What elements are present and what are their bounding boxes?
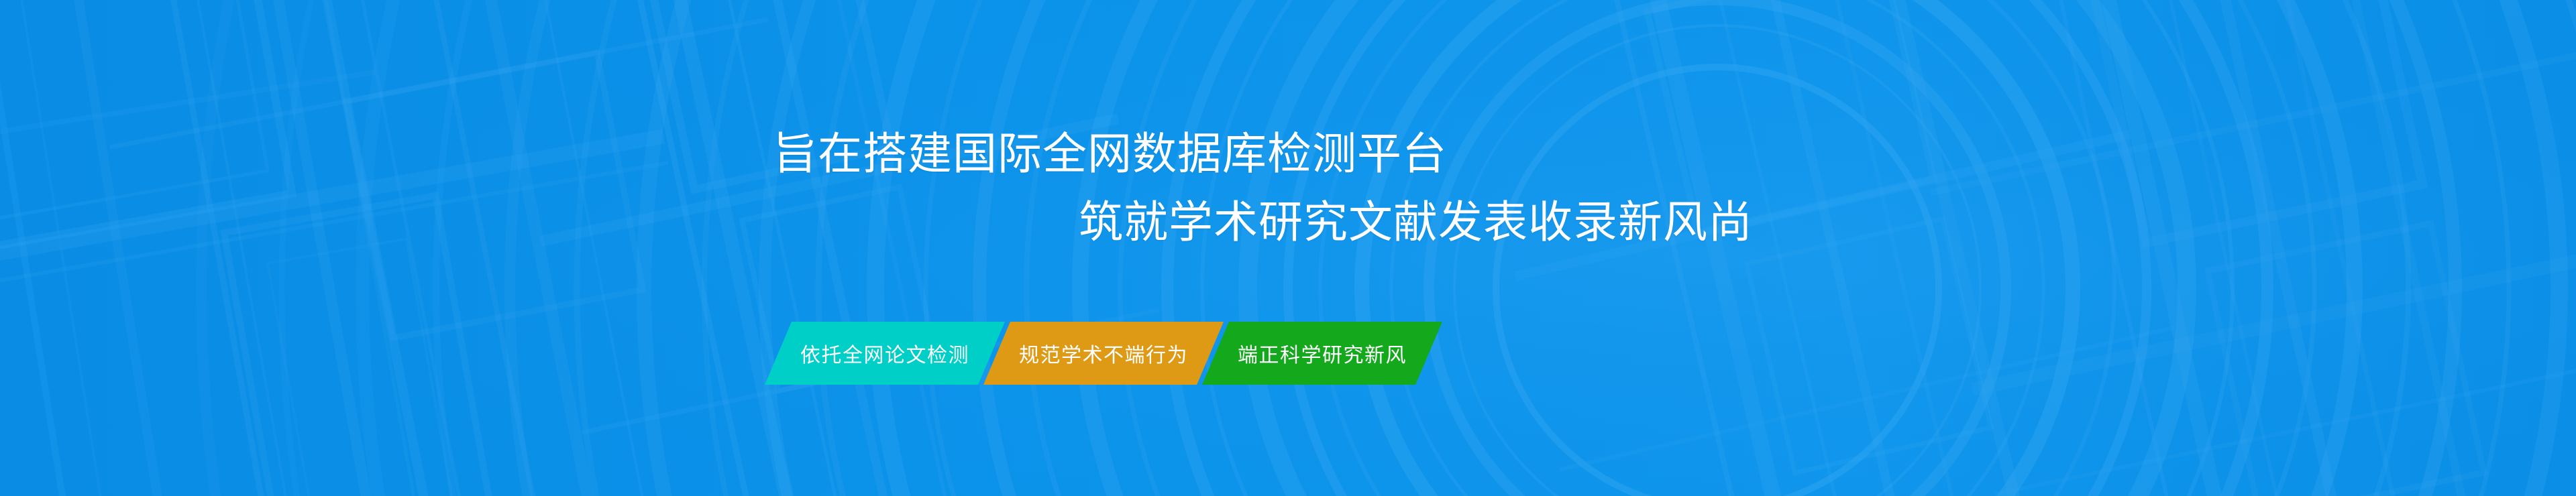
feature-tag-ethos-label: 端正科学研究新风 (1238, 338, 1407, 368)
feature-tag-detection[interactable]: 依托全网论文检测 (765, 322, 1005, 385)
headline-line-1: 旨在搭建国际全网数据库检测平台 (773, 131, 2576, 176)
feature-tag-misconduct[interactable]: 规范学术不端行为 (983, 322, 1224, 385)
feature-tag-misconduct-label: 规范学术不端行为 (1019, 338, 1188, 368)
promo-banner: 旨在搭建国际全网数据库检测平台 筑就学术研究文献发表收录新风尚 依托全网论文检测… (0, 0, 2576, 496)
banner-content: 旨在搭建国际全网数据库检测平台 筑就学术研究文献发表收录新风尚 依托全网论文检测… (0, 0, 2576, 496)
feature-tag-detection-label: 依托全网论文检测 (800, 338, 969, 368)
feature-tag-row: 依托全网论文检测 规范学术不端行为 端正科学研究新风 (778, 322, 1429, 385)
headline-line-2: 筑就学术研究文献发表收录新风尚 (1079, 200, 2576, 244)
feature-tag-ethos[interactable]: 端正科学研究新风 (1202, 322, 1442, 385)
headline-block: 旨在搭建国际全网数据库检测平台 筑就学术研究文献发表收录新风尚 (0, 131, 2576, 244)
